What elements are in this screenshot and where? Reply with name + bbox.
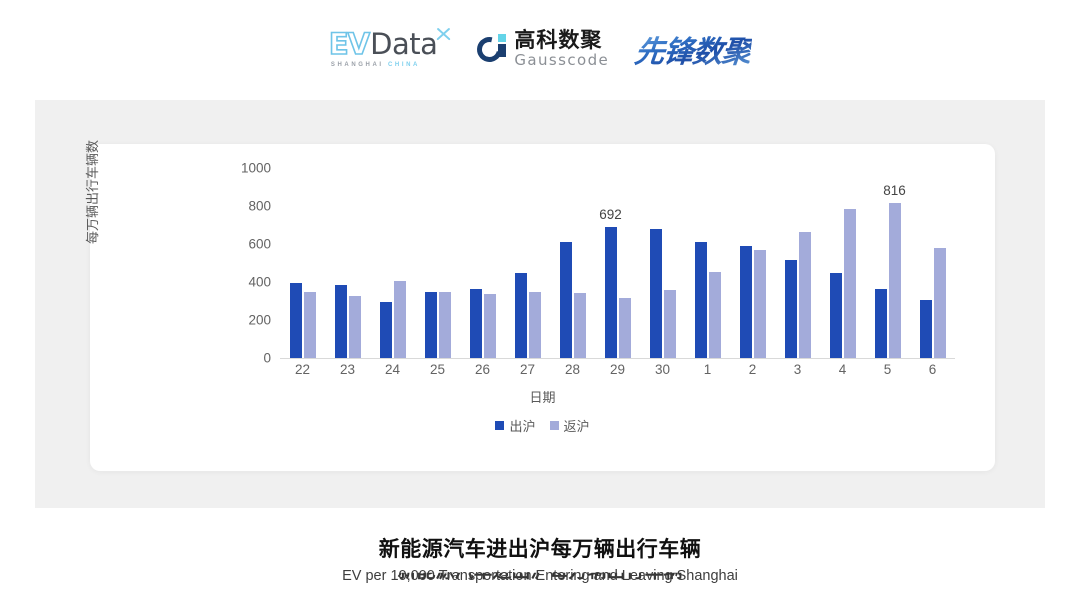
screenshot-root: EV Data SHANGHAI CHINA 高科数聚 Gausscode 先锋… <box>0 0 1080 608</box>
bar[interactable] <box>650 229 662 358</box>
bar[interactable] <box>740 246 752 358</box>
bar[interactable] <box>290 283 302 358</box>
xianfeng-cn-text: 先锋数聚 <box>633 27 754 71</box>
bar-chart: 每万辆出行车辆数 02004006008001000 692816 222324… <box>90 144 995 471</box>
bar[interactable] <box>394 281 406 358</box>
bar[interactable] <box>560 242 572 358</box>
x-axis-tick-label: 24 <box>385 362 400 377</box>
bar-group <box>550 168 595 358</box>
bar[interactable] <box>529 292 541 358</box>
bar[interactable]: 816 <box>889 203 901 358</box>
evdata-ev-text: EV <box>329 30 369 59</box>
bar-group <box>730 168 775 358</box>
bar-group <box>640 168 685 358</box>
bar[interactable] <box>619 298 631 358</box>
bar-group <box>415 168 460 358</box>
xianfeng-logo: 先锋数聚 <box>635 27 751 71</box>
bar[interactable] <box>799 232 811 358</box>
x-axis-tick-label: 1 <box>704 362 712 377</box>
chart-outer-panel: 每万辆出行车辆数 02004006008001000 692816 222324… <box>35 100 1045 508</box>
bar-group <box>775 168 820 358</box>
y-axis-tick-label: 600 <box>225 237 271 252</box>
x-axis-tick-label: 29 <box>610 362 625 377</box>
bar[interactable] <box>830 273 842 358</box>
page-title: 新能源汽车进出沪每万辆出行车辆 <box>0 533 1080 563</box>
bar-group: 816 <box>865 168 910 358</box>
gausscode-en-text: Gausscode <box>514 53 609 68</box>
bar[interactable]: 692 <box>605 227 617 358</box>
legend-item[interactable]: 返沪 <box>550 416 590 435</box>
y-axis-tick-label: 800 <box>225 199 271 214</box>
legend-swatch-icon <box>495 421 504 430</box>
bar-value-label: 692 <box>599 207 622 222</box>
evdata-wordmark: EV Data <box>329 30 452 59</box>
bar[interactable] <box>934 248 946 358</box>
bar-group: 692 <box>595 168 640 358</box>
bar[interactable] <box>515 273 527 359</box>
bar[interactable] <box>709 272 721 358</box>
bar-group <box>325 168 370 358</box>
evdata-data-text: Data <box>370 30 437 59</box>
bar-group <box>280 168 325 358</box>
bar-group <box>370 168 415 358</box>
x-axis-tick-label: 4 <box>839 362 847 377</box>
bar-group <box>460 168 505 358</box>
y-axis-tick-label: 400 <box>225 275 271 290</box>
evdata-tagline: SHANGHAI CHINA <box>331 62 420 68</box>
x-axis-tick-label: 23 <box>340 362 355 377</box>
legend-item[interactable]: 出沪 <box>495 416 535 435</box>
chart-card: 每万辆出行车辆数 02004006008001000 692816 222324… <box>90 144 995 471</box>
bar[interactable] <box>380 302 392 358</box>
bar[interactable] <box>875 289 887 358</box>
bar[interactable] <box>695 242 707 358</box>
legend-swatch-icon <box>550 421 559 430</box>
bar[interactable] <box>754 250 766 358</box>
gausscode-logo: 高科数聚 Gausscode <box>477 30 609 68</box>
x-axis-tick-label: 25 <box>430 362 445 377</box>
bar-group <box>685 168 730 358</box>
plot-area: 692816 <box>280 168 955 358</box>
logo-bar: EV Data SHANGHAI CHINA 高科数聚 Gausscode 先锋… <box>0 18 1080 80</box>
bar-group <box>910 168 955 358</box>
x-axis-tick-label: 2 <box>749 362 757 377</box>
bar[interactable] <box>439 292 451 358</box>
x-axis-tick-label: 28 <box>565 362 580 377</box>
x-axis-tick-label: 3 <box>794 362 802 377</box>
bar[interactable] <box>844 209 856 358</box>
y-axis-tick-label: 1000 <box>225 161 271 176</box>
bar-value-label: 816 <box>883 183 906 198</box>
bar[interactable] <box>785 260 797 358</box>
x-axis-tick-label: 30 <box>655 362 670 377</box>
x-axis-tick-label: 27 <box>520 362 535 377</box>
bar[interactable] <box>349 296 361 358</box>
gausscode-circle-icon <box>477 34 507 64</box>
y-axis-tick-label: 0 <box>225 351 271 366</box>
y-axis-ticks: 02004006008001000 <box>225 168 271 358</box>
bar[interactable] <box>664 290 676 358</box>
x-axis-baseline <box>280 358 955 359</box>
x-axis-tick-label: 6 <box>929 362 937 377</box>
legend-label: 出沪 <box>509 416 535 435</box>
bar-group <box>820 168 865 358</box>
x-axis-tick-label: 22 <box>295 362 310 377</box>
bar[interactable] <box>335 285 347 358</box>
chart-legend: 出沪返沪 <box>90 416 995 435</box>
x-axis-tick-label: 5 <box>884 362 892 377</box>
bar[interactable] <box>574 293 586 358</box>
bar[interactable] <box>484 294 496 358</box>
x-axis-tick-label: 26 <box>475 362 490 377</box>
bar[interactable] <box>920 300 932 358</box>
gausscode-cn-text: 高科数聚 <box>514 30 609 51</box>
x-axis-ticks: 222324252627282930123456 <box>280 362 955 384</box>
evdata-logo: EV Data SHANGHAI CHINA <box>329 30 452 68</box>
bar[interactable] <box>470 289 482 358</box>
bar[interactable] <box>425 292 437 359</box>
y-axis-title: 每万辆出行车辆数 <box>82 140 101 244</box>
gausscode-wordmark: 高科数聚 Gausscode <box>514 30 609 68</box>
legend-label: 返沪 <box>564 416 590 435</box>
x-mark-icon <box>435 26 451 42</box>
evdata-tagline-shanghai: SHANGHAI <box>331 62 388 68</box>
y-axis-tick-label: 200 <box>225 313 271 328</box>
x-axis-title: 日期 <box>90 387 995 406</box>
bar[interactable] <box>304 292 316 358</box>
page-subtitle: EV per 10,000 Transportation Entering an… <box>0 568 1080 584</box>
evdata-tagline-china: CHINA <box>388 62 420 68</box>
bar-group <box>505 168 550 358</box>
